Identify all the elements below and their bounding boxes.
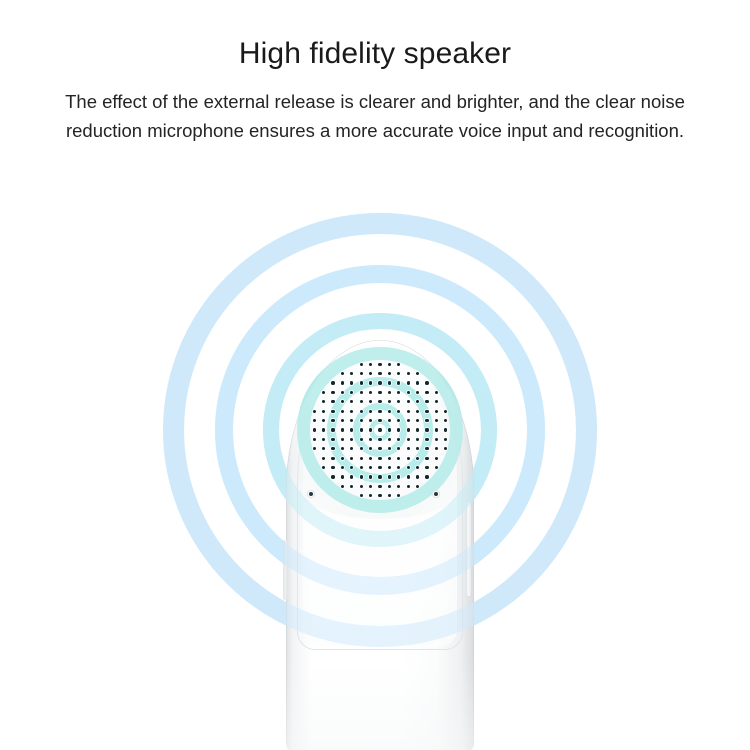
microphone-hole-left — [309, 492, 314, 497]
page-description: The effect of the external release is cl… — [28, 88, 722, 145]
page-title: High fidelity speaker — [0, 36, 750, 72]
product-feature-image: High fidelity speaker The effect of the … — [0, 0, 750, 750]
microphone-hole-right — [434, 492, 439, 497]
